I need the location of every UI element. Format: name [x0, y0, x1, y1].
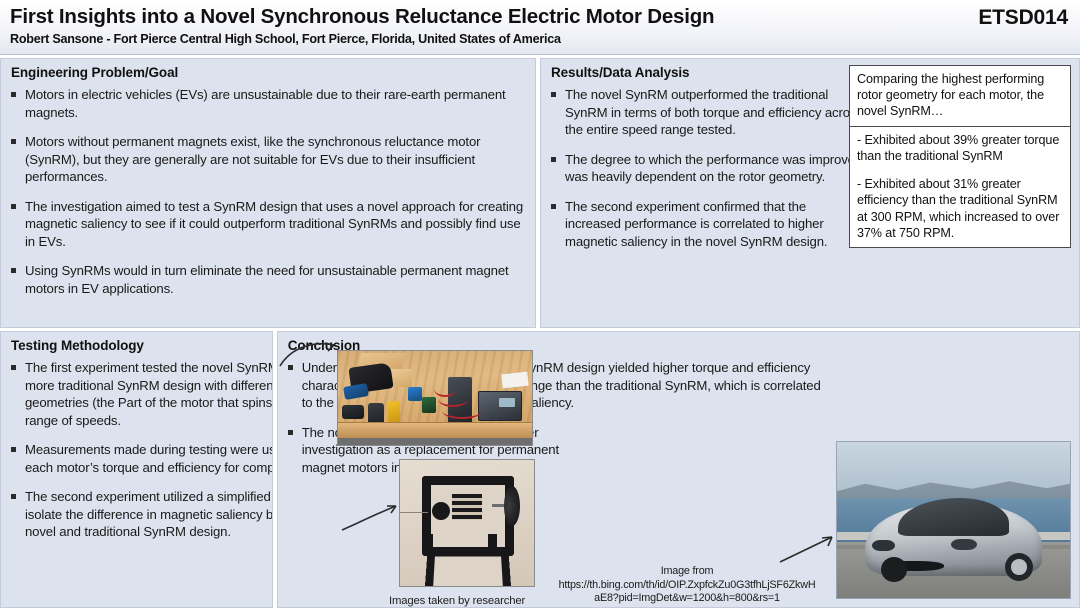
poster-row-top: Engineering Problem/Goal Motors in elect… [0, 58, 1080, 328]
caption-images-taken-by-researcher: Images taken by researcher [389, 595, 525, 607]
list-item: The novel SynRM outperformed the traditi… [565, 86, 865, 139]
image-credit-label: Image from [556, 565, 818, 578]
list-item: The first experiment tested the novel Sy… [25, 359, 273, 429]
motor-rig-photo [399, 459, 535, 587]
panel-engineering-problem: Engineering Problem/Goal Motors in elect… [0, 58, 536, 328]
poster-row-bottom: Testing Methodology The first experiment… [0, 331, 1080, 608]
page-title: First Insights into a Novel Synchronous … [10, 6, 1070, 28]
list-item: Using SynRMs would in turn eliminate the… [25, 262, 525, 297]
list-item: The second experiment confirmed that the… [565, 198, 865, 251]
list-item: Measurements made during testing were us… [25, 441, 273, 476]
callout-intro: Comparing the highest performing rotor g… [850, 66, 1070, 126]
project-code-badge: ETSD014 [978, 6, 1068, 30]
list-item: Motors in electric vehicles (EVs) are un… [25, 86, 525, 121]
poster-header: First Insights into a Novel Synchronous … [0, 0, 1080, 55]
poster-body: Engineering Problem/Goal Motors in elect… [0, 55, 1080, 608]
electric-car-photo [836, 441, 1071, 599]
caption-image-credit: Image from https://th.bing.com/th/id/OIP… [556, 565, 818, 605]
testing-methodology-bullet-list: The first experiment tested the novel Sy… [1, 355, 273, 541]
panel-results-data-analysis: Results/Data Analysis The novel SynRM ou… [540, 58, 1080, 328]
panel-testing-methodology: Testing Methodology The first experiment… [0, 331, 273, 608]
list-item: The second experiment utilized a simplif… [25, 488, 273, 541]
list-item: Motors without permanent magnets exist, … [25, 133, 525, 186]
image-credit-url: https://th.bing.com/th/id/OIP.ZxpfckZu0G… [559, 579, 816, 604]
list-item: The degree to which the performance was … [565, 151, 865, 186]
results-bullet-list: The novel SynRM outperformed the traditi… [541, 82, 875, 250]
callout-point-efficiency: - Exhibited about 31% greater efficiency… [857, 176, 1063, 241]
test-bench-photo [337, 350, 533, 446]
callout-points: - Exhibited about 39% greater torque tha… [850, 126, 1070, 247]
panel-title-testing-methodology: Testing Methodology [1, 332, 272, 355]
callout-point-torque: - Exhibited about 39% greater torque tha… [857, 132, 1063, 164]
engineering-problem-bullet-list: Motors in electric vehicles (EVs) are un… [1, 82, 535, 297]
results-highlight-callout: Comparing the highest performing rotor g… [849, 65, 1071, 248]
poster-root: First Insights into a Novel Synchronous … [0, 0, 1080, 608]
author-affiliation: Robert Sansone - Fort Pierce Central Hig… [10, 32, 1070, 46]
panel-title-engineering-problem: Engineering Problem/Goal [1, 59, 535, 82]
list-item: The investigation aimed to test a SynRM … [25, 198, 525, 251]
